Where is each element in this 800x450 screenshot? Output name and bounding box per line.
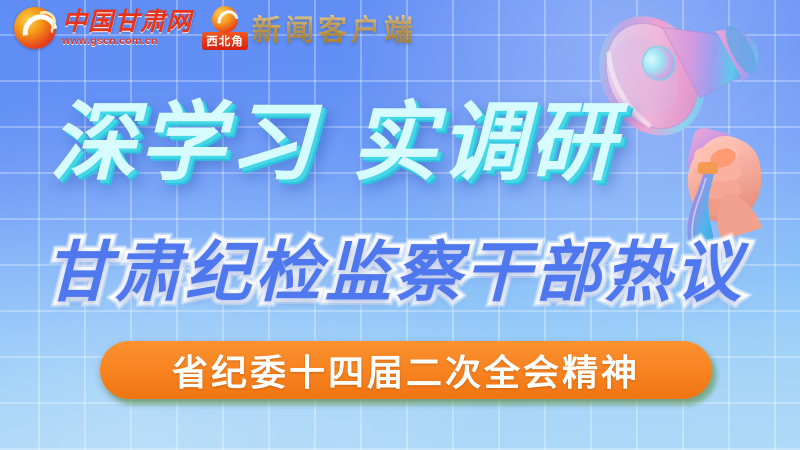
poster-canvas: 中国甘肃网 www.gscn.com.cn 西北角 新闻客户端 深学习 实调研 … [0,0,800,450]
flame-swirl-icon [14,7,56,49]
subtitle-banner: 省纪委十四届二次全会精神 [100,341,712,399]
logo-xibeijiao[interactable]: 西北角 新闻客户端 [206,6,417,50]
logo-xibeijiao-badge: 西北角 [202,32,248,50]
app-name-label: 新闻客户端 [252,7,417,49]
subtitle-banner-wrap: 省纪委十四届二次全会精神 [100,341,712,399]
header-logos: 中国甘肃网 www.gscn.com.cn 西北角 新闻客户端 [14,6,417,50]
xibeijiao-mark: 西北角 [206,6,244,50]
logo-gscn-name: 中国甘肃网 [62,9,192,34]
subtitle-banner-text: 省纪委十四届二次全会精神 [172,344,640,396]
headline-line-1: 深学习 实调研 [50,100,618,186]
headline-1-part-b: 实调研 [351,100,618,186]
headline-line-2: 甘肃纪检监察干部热议 [45,240,745,306]
logo-gscn-url: www.gscn.com.cn [62,36,192,47]
megaphone-in-hand-icon [594,0,800,274]
logo-gscn[interactable]: 中国甘肃网 www.gscn.com.cn [14,7,192,49]
flame-swirl-icon [212,6,238,33]
headline-1-part-a: 深学习 [50,100,317,186]
